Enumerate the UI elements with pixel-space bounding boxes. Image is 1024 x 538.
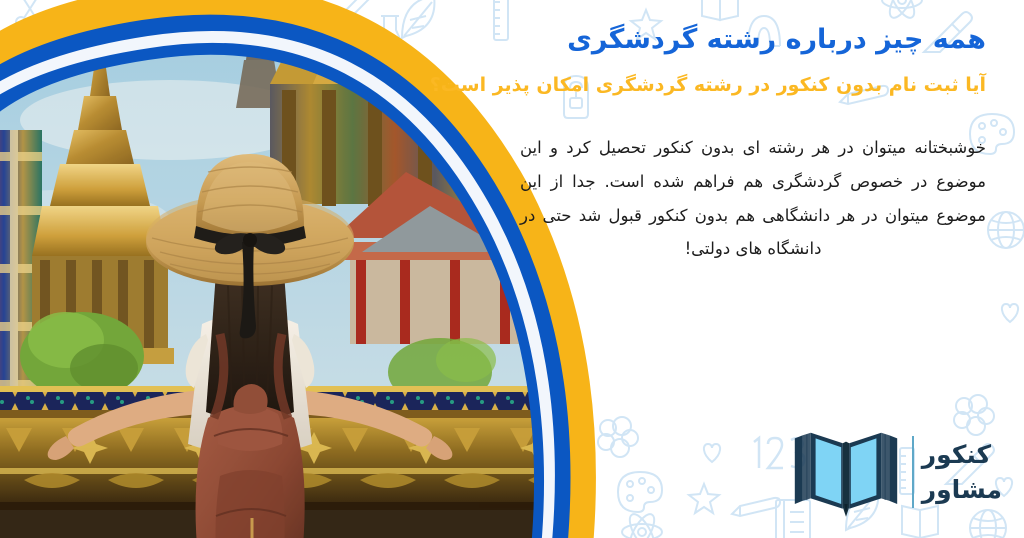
text-column: همه چیز درباره رشته گردشگری آیا ثبت نام … xyxy=(516,22,986,266)
logo-line-moshaver: مشاور xyxy=(922,474,1002,505)
subtitle-question: آیا ثبت نام بدون کنکور در رشته گردشگری ا… xyxy=(516,72,986,99)
page-title: همه چیز درباره رشته گردشگری xyxy=(516,22,986,58)
brand-logo[interactable]: کنکور مشاور xyxy=(790,424,1002,520)
body-paragraph: خوشبختانه میتوان در هر رشته ای بدون کنکو… xyxy=(516,131,986,266)
open-book-icon xyxy=(790,424,902,520)
logo-line-konkur: کنکور xyxy=(922,439,991,470)
promotional-banner: همه چیز درباره رشته گردشگری آیا ثبت نام … xyxy=(0,0,1024,538)
logo-wordmark: کنکور مشاور xyxy=(912,436,1002,508)
